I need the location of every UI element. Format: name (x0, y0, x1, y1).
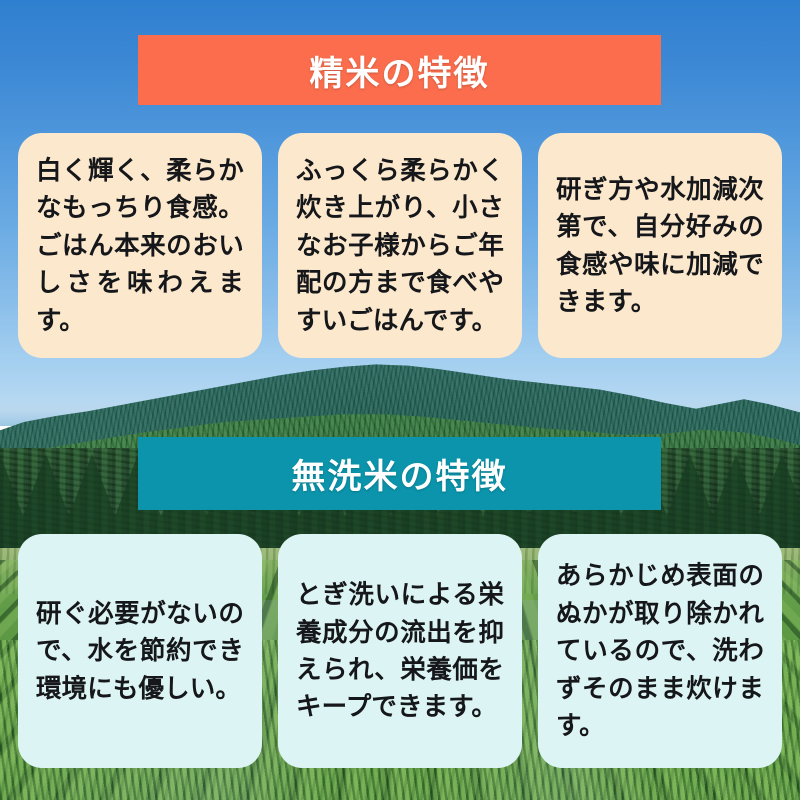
section-banner-musenmai: 無洗米の特徴 (138, 437, 661, 510)
feature-card-text: ふっくら柔らかく炊き上がり、小さなお子様からご年配の方まで食べやすいごはんです。 (296, 152, 504, 339)
feature-card-text: 研ぎ方や水加減次第で、自分好みの食感や味に加減できます。 (556, 171, 764, 321)
feature-card-seimai-3: 研ぎ方や水加減次第で、自分好みの食感や味に加減できます。 (538, 133, 782, 358)
card-row-seimai: 白く輝く、柔らかなもっちり食感。ごはん本来のおいしさを味わえます。 ふっくら柔ら… (0, 133, 800, 358)
feature-card-text: 白く輝く、柔らかなもっちり食感。ごはん本来のおいしさを味わえます。 (36, 152, 244, 339)
feature-card-musenmai-1: 研ぐ必要がないので、水を節約でき環境にも優しい。 (18, 534, 262, 768)
feature-card-text: 研ぐ必要がないので、水を節約でき環境にも優しい。 (36, 595, 244, 707)
feature-card-seimai-2: ふっくら柔らかく炊き上がり、小さなお子様からご年配の方まで食べやすいごはんです。 (278, 133, 522, 358)
feature-card-text: とぎ洗いによる栄養成分の流出を抑えられ、栄養価をキープできます。 (296, 576, 504, 726)
feature-card-text: あらかじめ表面のぬかが取り除かれているので、洗わずそのまま炊けます。 (556, 557, 764, 744)
section-banner-seimai: 精米の特徴 (138, 35, 661, 105)
card-row-musenmai: 研ぐ必要がないので、水を節約でき環境にも優しい。 とぎ洗いによる栄養成分の流出を… (0, 534, 800, 768)
feature-card-musenmai-3: あらかじめ表面のぬかが取り除かれているので、洗わずそのまま炊けます。 (538, 534, 782, 768)
banner-label-seimai: 精米の特徴 (309, 46, 489, 95)
feature-card-seimai-1: 白く輝く、柔らかなもっちり食感。ごはん本来のおいしさを味わえます。 (18, 133, 262, 358)
banner-label-musenmai: 無洗米の特徴 (291, 449, 507, 498)
infographic-panel: 精米の特徴 白く輝く、柔らかなもっちり食感。ごはん本来のおいしさを味わえます。 … (0, 0, 800, 800)
feature-card-musenmai-2: とぎ洗いによる栄養成分の流出を抑えられ、栄養価をキープできます。 (278, 534, 522, 768)
